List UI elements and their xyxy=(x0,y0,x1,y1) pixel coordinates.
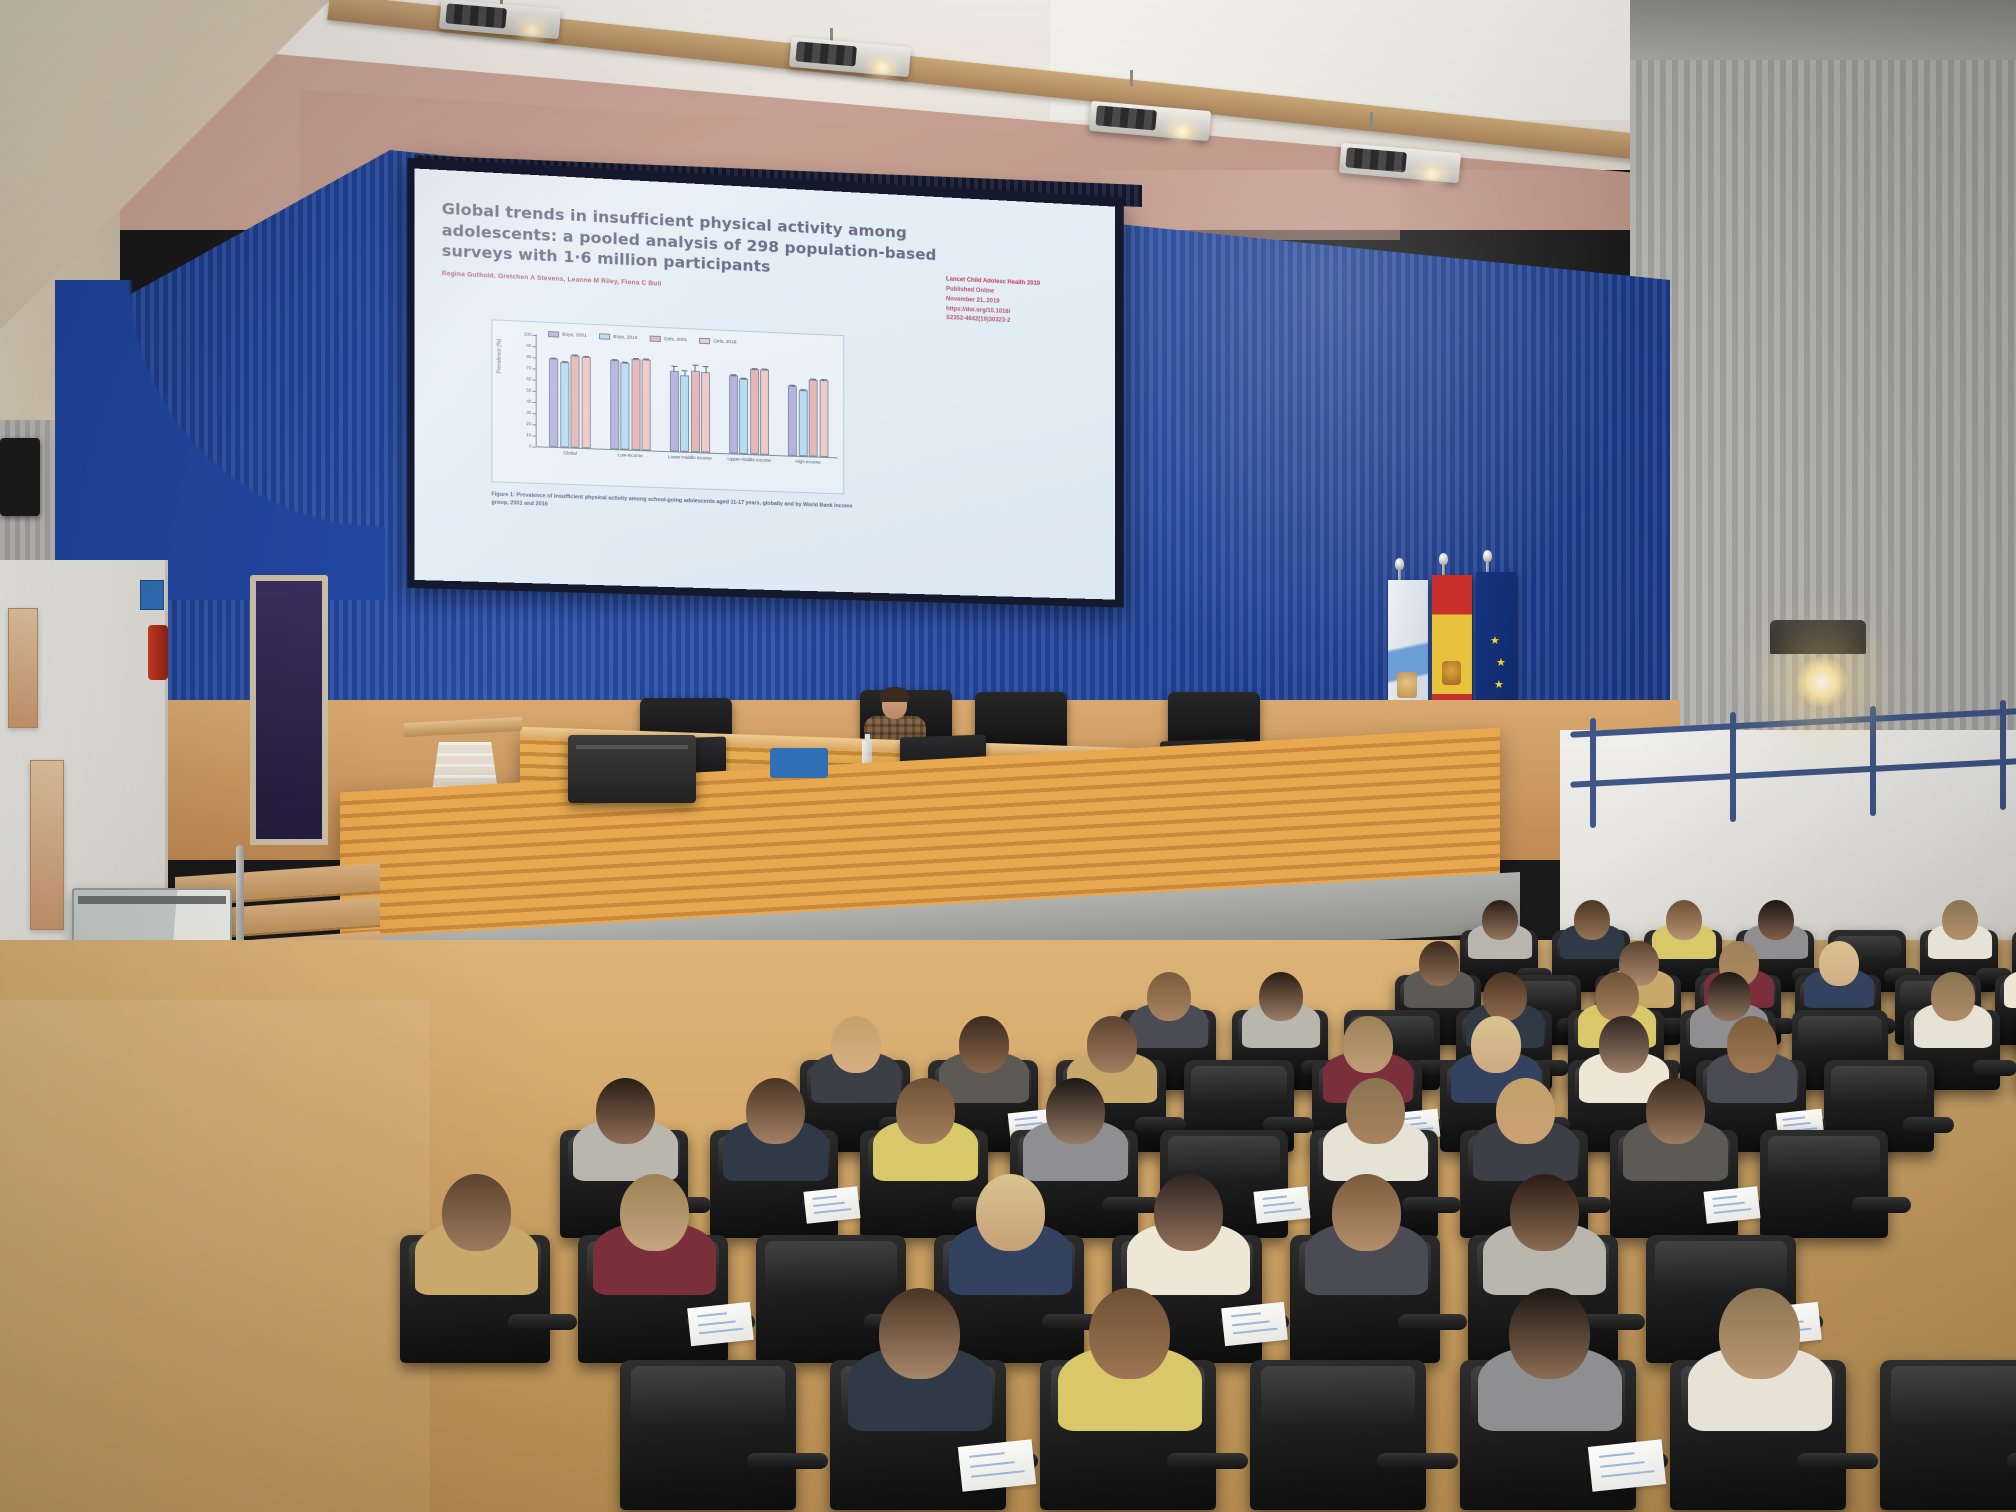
wall-sconce-bulb xyxy=(1795,655,1849,709)
chart-error-bar xyxy=(646,358,647,360)
chart-bar xyxy=(670,370,679,451)
seat-armrest xyxy=(1852,1197,1911,1213)
chart-y-tick: 20 xyxy=(526,421,531,426)
chart-bar xyxy=(680,375,689,452)
fire-extinguisher xyxy=(148,625,168,680)
audience-member-head xyxy=(1595,972,1639,1021)
chart-bar xyxy=(729,375,738,454)
audience-member xyxy=(1127,1174,1250,1296)
blue-crate xyxy=(770,748,828,778)
seat-armrest xyxy=(1797,1453,1878,1469)
paper-text-line xyxy=(1233,1328,1278,1335)
audience-member xyxy=(1914,972,1993,1048)
chart-bar xyxy=(819,380,828,457)
chart-y-tick: 50 xyxy=(526,387,531,392)
audience-member-head xyxy=(442,1174,511,1251)
wall-poster-2 xyxy=(30,760,64,930)
handout-paper[interactable] xyxy=(958,1439,1036,1491)
railing-post xyxy=(1870,706,1876,816)
chart-x-tick-label: High-income xyxy=(782,458,833,466)
chart-x-tick-label: Lower-middle income xyxy=(664,454,716,462)
track-light-stem xyxy=(1130,70,1133,86)
eu-star: ★ xyxy=(1494,680,1504,691)
chart-bar xyxy=(691,370,700,452)
seat-armrest xyxy=(508,1314,577,1330)
chart-error-bar xyxy=(553,358,554,360)
audience-member xyxy=(1404,941,1475,1008)
audience-member xyxy=(1058,1288,1202,1431)
chart-bar xyxy=(571,355,580,448)
chart-bar-groups xyxy=(540,335,838,458)
chart-y-tick: 40 xyxy=(526,399,531,404)
chart-error-bar xyxy=(684,370,685,377)
audience-member xyxy=(573,1078,678,1181)
chart-bar xyxy=(582,357,591,449)
chart-y-tick: 30 xyxy=(526,410,531,415)
paper-text-line xyxy=(1263,1209,1302,1215)
audience-member xyxy=(1023,1078,1128,1181)
equipment-road-case xyxy=(568,735,696,803)
handout-paper[interactable] xyxy=(1221,1302,1288,1347)
audience-member-head xyxy=(746,1078,805,1144)
handout-paper[interactable] xyxy=(1703,1187,1760,1225)
paper-text-line xyxy=(1783,1116,1805,1120)
chart-error-bar xyxy=(624,362,625,364)
chart-error-bar xyxy=(705,366,706,373)
handout-paper[interactable] xyxy=(687,1302,754,1347)
chart-error-bar xyxy=(744,378,745,380)
audience-member-head xyxy=(1419,941,1459,985)
auditorium-floor-aisle xyxy=(0,1000,430,1512)
audience-member-head xyxy=(1496,1078,1555,1144)
audience-member xyxy=(2004,941,2016,1008)
handout-paper[interactable] xyxy=(1588,1439,1666,1491)
audience-member xyxy=(723,1078,828,1181)
chart-error-bar xyxy=(614,359,615,361)
chart-error-bar xyxy=(813,379,814,381)
flagpole-finial xyxy=(1439,553,1448,565)
chart-bar xyxy=(701,372,710,453)
paper-text-line xyxy=(1712,1202,1744,1207)
audience-member-head xyxy=(1147,972,1191,1021)
chart-y-axis-label: Prevalence (%) xyxy=(497,339,503,374)
audience-member xyxy=(1483,1174,1606,1296)
seat-armrest xyxy=(1167,1453,1248,1469)
chart-y-tick: 60 xyxy=(526,376,531,381)
paper-text-line xyxy=(1261,1196,1287,1201)
audience-member-head xyxy=(831,1016,882,1073)
chart-error-bar xyxy=(754,369,755,371)
handout-paper[interactable] xyxy=(803,1187,860,1225)
audience-member xyxy=(415,1174,538,1296)
seat-armrest xyxy=(1377,1453,1458,1469)
chart-bar xyxy=(740,379,749,454)
audience-member-head xyxy=(1483,972,1527,1021)
audience-member-head xyxy=(1332,1174,1401,1251)
railing-bar-bottom xyxy=(1570,758,2016,788)
audience-member-head xyxy=(976,1174,1045,1251)
chart-y-tick: 100 xyxy=(524,331,532,336)
chart-bar-group xyxy=(788,346,828,457)
audience-member xyxy=(1468,900,1532,959)
paper-text-line xyxy=(1601,1469,1654,1477)
seat-armrest xyxy=(1973,1060,2016,1076)
spain-coat-of-arms xyxy=(1442,661,1461,685)
chart-error-bar xyxy=(733,374,734,376)
audience-member-head xyxy=(1758,900,1794,940)
audience-member-head xyxy=(1087,1016,1138,1073)
chart-bar xyxy=(788,385,797,456)
paper-text-line xyxy=(812,1202,844,1207)
paper-text-line xyxy=(969,1452,1004,1458)
lectern-top xyxy=(404,717,522,737)
audience-member xyxy=(949,1174,1072,1296)
audience-member xyxy=(848,1288,992,1431)
audience-member xyxy=(1688,1288,1832,1431)
wall-speaker-left xyxy=(0,438,40,516)
audience-member-head xyxy=(1819,941,1859,985)
paper-text-line xyxy=(1711,1196,1737,1201)
paper-text-line xyxy=(1600,1460,1644,1467)
figure-1-chart: Prevalence (%) 1009080706050403020100 Bo… xyxy=(491,319,844,494)
chart-error-bar xyxy=(695,365,696,372)
audience-member-head xyxy=(1346,1078,1405,1144)
audience-member-head xyxy=(596,1078,655,1144)
railing-post xyxy=(2000,700,2006,810)
audience-member-head xyxy=(1259,972,1303,1021)
chart-y-tick: 0 xyxy=(529,443,532,448)
eu-star: ★ xyxy=(1490,636,1500,647)
audience-member-head xyxy=(879,1288,960,1379)
track-light-stem xyxy=(1370,112,1373,128)
flagpole-finial xyxy=(1483,550,1492,562)
ribbed-right-wall-shadow xyxy=(1630,0,2016,60)
audience-member-head xyxy=(620,1174,689,1251)
flagpole-finial xyxy=(1395,558,1404,570)
paper-text-line xyxy=(1231,1313,1261,1318)
paper-text-line xyxy=(1262,1202,1294,1207)
chart-error-bar xyxy=(674,366,675,372)
fire-extinguisher-sign xyxy=(140,580,164,610)
paper-text-line xyxy=(1599,1452,1634,1458)
handout-paper[interactable] xyxy=(1253,1187,1310,1225)
audience-member-head xyxy=(959,1016,1010,1073)
chart-bar xyxy=(549,359,558,448)
paper-text-line xyxy=(811,1196,837,1201)
paper-text-line xyxy=(1713,1209,1752,1215)
presentation-slide: Global trends in insufficient physical a… xyxy=(415,168,1116,599)
chart-bar-group xyxy=(729,343,769,455)
audience-seat[interactable] xyxy=(1880,1360,2016,1510)
chart-error-bar xyxy=(792,384,793,386)
audience-member xyxy=(1323,1078,1428,1181)
audience-member-head xyxy=(1599,1016,1650,1073)
chart-bar xyxy=(631,359,640,450)
galicia-coat-of-arms xyxy=(1397,672,1417,698)
paper-text-line xyxy=(1784,1122,1812,1127)
audience-member-head xyxy=(1509,1288,1590,1379)
railing-bar-top xyxy=(1570,708,2016,738)
seat-armrest xyxy=(1903,1117,1954,1133)
chart-bar xyxy=(809,380,818,457)
audience-member-head xyxy=(1482,900,1518,940)
paper-text-line xyxy=(1232,1321,1270,1327)
chart-bar xyxy=(560,362,569,447)
paper-text-line xyxy=(699,1328,744,1335)
wall-poster-1 xyxy=(8,608,38,728)
seat-armrest xyxy=(747,1453,828,1469)
audience-member-head xyxy=(1727,1016,1778,1073)
audience-member-head xyxy=(1931,972,1975,1021)
audience-member xyxy=(1623,1078,1728,1181)
seat-armrest xyxy=(1398,1314,1467,1330)
chart-y-axis-ticks: 1009080706050403020100 xyxy=(513,334,536,447)
chart-error-bar xyxy=(823,379,824,381)
audience-member xyxy=(873,1078,978,1181)
paper-text-line xyxy=(698,1321,736,1327)
chart-bar xyxy=(642,359,651,450)
audience-member xyxy=(1928,900,1992,959)
chart-y-tick: 90 xyxy=(526,343,531,348)
chart-error-bar xyxy=(764,369,765,371)
audience-member xyxy=(1473,1078,1578,1181)
paper-text-line xyxy=(813,1209,852,1215)
auditorium-photo: Global trends in insufficient physical a… xyxy=(0,0,2016,1512)
presenter-hair xyxy=(880,687,909,702)
blue-wall-curve xyxy=(55,280,385,600)
audience-member-head xyxy=(896,1078,955,1144)
paper-text-line xyxy=(971,1469,1024,1477)
audience-member-torso xyxy=(2004,969,2016,1008)
balcony-railing xyxy=(1570,710,2016,840)
audience-member-head xyxy=(1574,900,1610,940)
paper-text-line xyxy=(697,1313,727,1318)
audience-member-head xyxy=(1089,1288,1170,1379)
audience-member-head xyxy=(1719,1288,1800,1379)
chart-bar-group xyxy=(610,338,651,451)
wall-sconce-fixture xyxy=(1770,620,1866,654)
audience-member xyxy=(1305,1174,1428,1296)
chart-bar xyxy=(798,390,807,456)
audience-member xyxy=(1242,972,1321,1048)
chart-bar-group xyxy=(549,335,590,448)
audience-member-head xyxy=(1707,972,1751,1021)
audience-member-head xyxy=(1942,900,1978,940)
audience-seat[interactable] xyxy=(1760,1130,1888,1238)
stage-side-door[interactable] xyxy=(250,575,328,845)
audience-seat[interactable] xyxy=(1250,1360,1426,1510)
audience-member-head xyxy=(1343,1016,1394,1073)
chart-y-tick: 10 xyxy=(526,432,531,437)
chart-error-bar xyxy=(635,358,636,360)
eu-star: ★ xyxy=(1496,658,1506,669)
audience-member-head xyxy=(1471,1016,1522,1073)
paper-text-line xyxy=(970,1460,1014,1467)
audience-member-head xyxy=(1510,1174,1579,1251)
chart-error-bar xyxy=(575,354,576,356)
railing-post xyxy=(1590,718,1596,828)
audience-member-head xyxy=(1154,1174,1223,1251)
chart-x-tick-label: Upper-middle income xyxy=(723,456,775,464)
audience-member xyxy=(1804,941,1875,1008)
chart-bar xyxy=(750,369,759,454)
audience-seat[interactable] xyxy=(620,1360,796,1510)
chart-error-bar xyxy=(802,389,803,391)
chart-error-bar xyxy=(586,356,587,358)
chart-y-axis-line xyxy=(536,335,537,447)
chart-y-tick: 70 xyxy=(526,365,531,370)
audience-member xyxy=(1478,1288,1622,1431)
audience-member-head xyxy=(1046,1078,1105,1144)
slide-journal-metadata: Lancet Child Adolesc Health 2019 Publish… xyxy=(946,275,1090,330)
chart-bar xyxy=(620,363,629,450)
chart-y-tick: 80 xyxy=(526,354,531,359)
audience-member-head xyxy=(1646,1078,1705,1144)
chart-bar xyxy=(760,370,769,455)
audience-member-head xyxy=(1666,900,1702,940)
audience-member xyxy=(593,1174,716,1296)
projection-screen: Global trends in insufficient physical a… xyxy=(415,168,1116,599)
chart-x-tick-label: Low-income xyxy=(604,452,657,460)
railing-post xyxy=(1730,712,1736,822)
figure-caption: Figure 1: Prevalence of insufficient phy… xyxy=(491,490,854,518)
chart-x-tick-label: Global xyxy=(543,450,596,458)
chart-bar-group xyxy=(670,340,711,452)
chart-bar xyxy=(610,360,619,449)
chart-error-bar xyxy=(564,361,565,363)
